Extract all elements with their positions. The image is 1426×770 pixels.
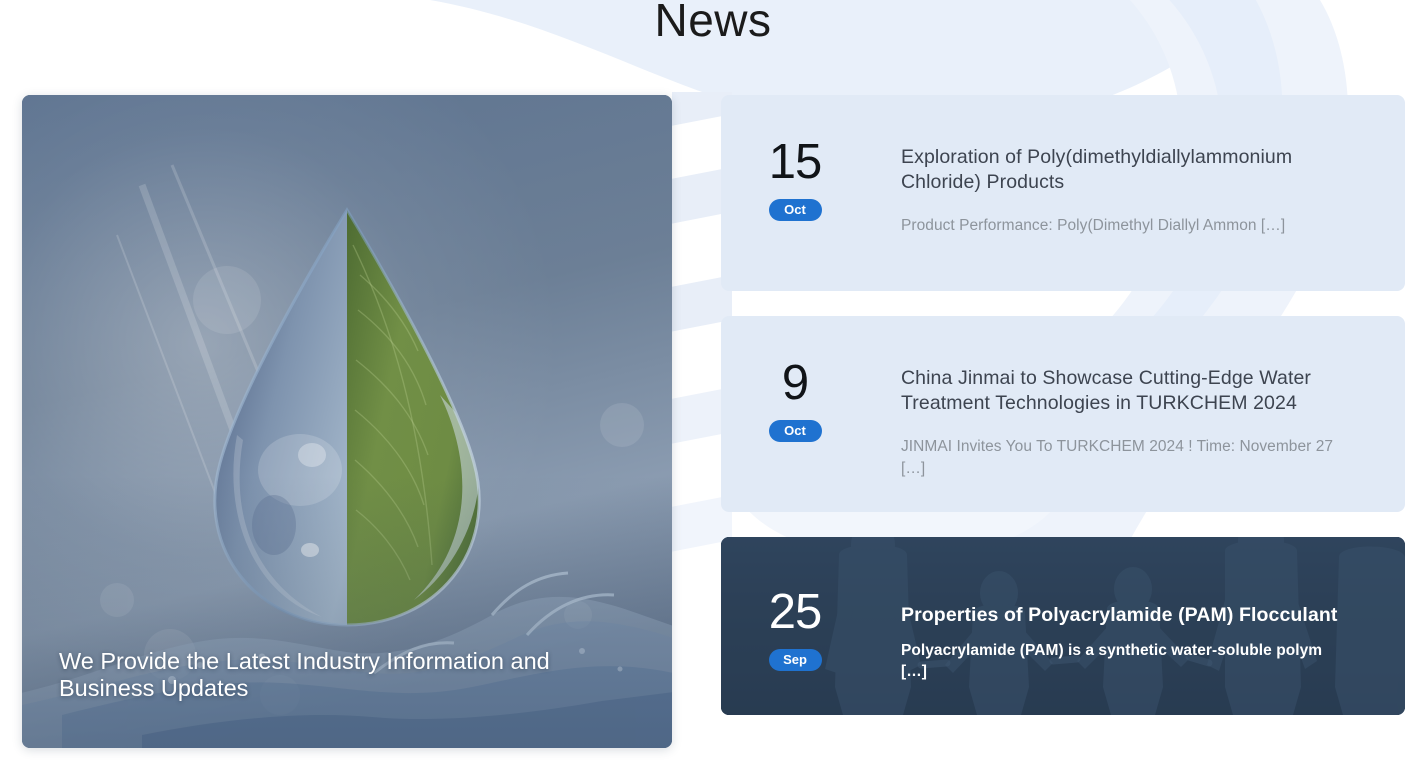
news-date: 25 Sep	[721, 537, 869, 671]
news-card-excerpt: Product Performance: Poly(Dimethyl Diall…	[901, 215, 1345, 237]
news-card-excerpt: JINMAI Invites You To TURKCHEM 2024 ! Ti…	[901, 436, 1345, 479]
news-card-title[interactable]: China Jinmai to Showcase Cutting-Edge Wa…	[901, 366, 1345, 415]
news-date-day: 9	[782, 360, 808, 407]
news-card[interactable]: 15 Oct Exploration of Poly(dimethyldiall…	[721, 95, 1405, 291]
hero-featured-image[interactable]: We Provide the Latest Industry Informati…	[22, 95, 672, 748]
news-section-page: News	[0, 0, 1426, 770]
hero-caption: We Provide the Latest Industry Informati…	[59, 648, 638, 701]
news-date-month-badge: Sep	[769, 649, 822, 672]
news-date: 9 Oct	[721, 316, 869, 442]
news-date-day: 25	[769, 589, 822, 636]
page-title: News	[0, 0, 1426, 47]
news-card-list: 15 Oct Exploration of Poly(dimethyldiall…	[721, 95, 1405, 715]
news-date-month-badge: Oct	[769, 199, 822, 222]
news-date-day: 15	[769, 139, 822, 186]
news-card-title[interactable]: Properties of Polyacrylamide (PAM) Flocc…	[901, 603, 1345, 628]
news-date-month-badge: Oct	[769, 420, 822, 443]
news-card-body: Exploration of Poly(dimethyldiallylammon…	[869, 95, 1405, 237]
news-card[interactable]: 9 Oct China Jinmai to Showcase Cutting-E…	[721, 316, 1405, 512]
news-card-body: Properties of Polyacrylamide (PAM) Flocc…	[869, 537, 1405, 683]
news-card-excerpt: Polyacrylamide (PAM) is a synthetic wate…	[901, 640, 1345, 683]
news-card[interactable]: 25 Sep Properties of Polyacrylamide (PAM…	[721, 537, 1405, 715]
news-card-title[interactable]: Exploration of Poly(dimethyldiallylammon…	[901, 145, 1345, 194]
news-card-body: China Jinmai to Showcase Cutting-Edge Wa…	[869, 316, 1405, 480]
news-date: 15 Oct	[721, 95, 869, 221]
